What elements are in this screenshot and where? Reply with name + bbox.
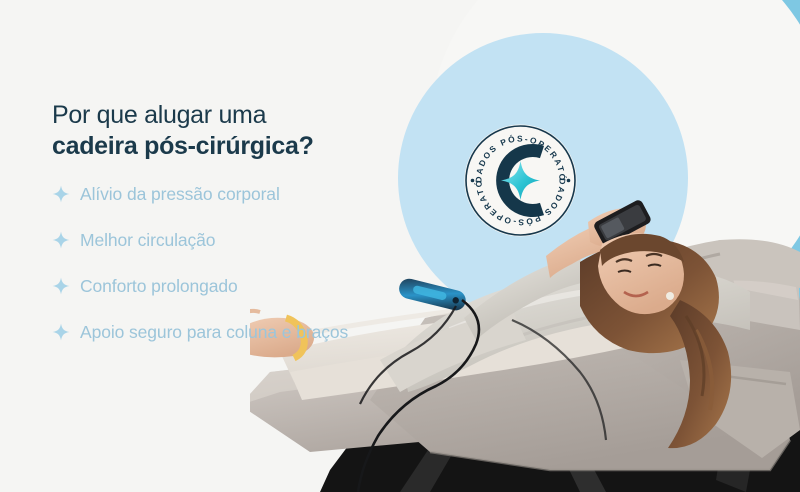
benefits-list: Alívio da pressão corporal Melhor circul… — [52, 183, 382, 346]
sparkle-icon — [52, 185, 70, 208]
list-item-label: Apoio seguro para coluna e braços — [80, 321, 348, 343]
badge-dot-right — [567, 179, 571, 183]
list-item: Alívio da pressão corporal — [52, 183, 382, 208]
brand-badge: CUIDADOS PÓS-OPERATÓRIO CUIDADOS PÓS-OPE… — [463, 123, 578, 238]
sparkle-icon — [52, 323, 70, 346]
copy-block: Por que alugar uma cadeira pós-cirúrgica… — [52, 100, 382, 346]
badge-dot-left — [471, 179, 475, 183]
list-item: Melhor circulação — [52, 229, 382, 254]
list-item: Apoio seguro para coluna e braços — [52, 321, 382, 346]
headline-line-1: Por que alugar uma — [52, 101, 266, 129]
list-item-label: Conforto prolongado — [80, 275, 238, 297]
list-item-label: Melhor circulação — [80, 229, 215, 251]
list-item-label: Alívio da pressão corporal — [80, 183, 280, 205]
list-item: Conforto prolongado — [52, 275, 382, 300]
promo-banner: CUIDADOS PÓS-OPERATÓRIO CUIDADOS PÓS-OPE… — [0, 0, 800, 492]
sparkle-icon — [52, 231, 70, 254]
headline-line-2: cadeira pós-cirúrgica? — [52, 131, 382, 162]
page-title: Por que alugar uma cadeira pós-cirúrgica… — [52, 100, 382, 161]
sparkle-icon — [52, 277, 70, 300]
